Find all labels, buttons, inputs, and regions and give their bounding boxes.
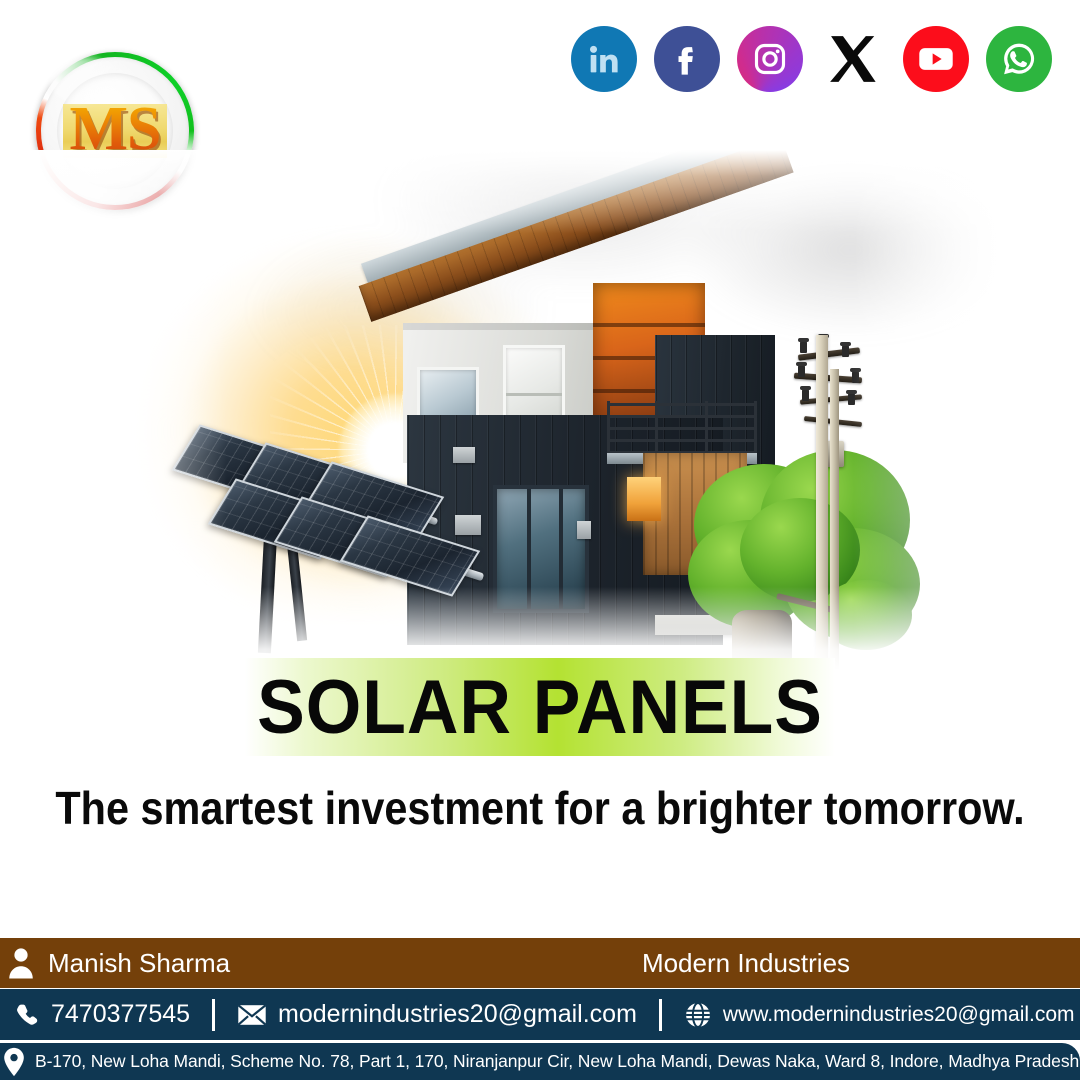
divider <box>212 999 215 1031</box>
pole-insulator <box>802 389 809 401</box>
pole-mast <box>816 335 828 670</box>
location-pin-icon <box>2 1047 26 1077</box>
contact-person-name: Manish Sharma <box>48 948 230 979</box>
website-block[interactable]: www.modernindustries20@gmail.com <box>684 1001 1075 1029</box>
pole-insulator <box>798 365 805 377</box>
lit-window <box>627 477 661 521</box>
phone-icon <box>14 1002 40 1028</box>
whatsapp-icon[interactable] <box>986 26 1052 92</box>
linkedin-icon[interactable] <box>571 26 637 92</box>
phone-number: 7470377545 <box>51 1000 190 1029</box>
hero-photo-collage <box>0 150 1080 670</box>
divider <box>659 999 662 1031</box>
logo-glare <box>50 58 129 105</box>
pole-insulator <box>852 371 859 383</box>
pole-insulator <box>848 393 855 405</box>
email-address: modernindustries20@gmail.com <box>278 1000 637 1029</box>
solar-panels-promo-poster: MS MS <box>0 0 1080 1080</box>
pole-crossarm <box>798 347 860 361</box>
utility-pole <box>790 335 870 670</box>
instagram-icon[interactable] <box>737 26 803 92</box>
website-url: www.modernindustries20@gmail.com <box>723 1003 1075 1027</box>
globe-icon <box>684 1001 712 1029</box>
footer-contact-bar: 7470377545 modernindustries20@gmail.com <box>0 989 1080 1040</box>
balcony-railing <box>607 401 757 455</box>
solar-panel-array <box>175 415 565 665</box>
contact-person: Manish Sharma <box>0 946 230 980</box>
social-links <box>571 26 1052 92</box>
facebook-icon[interactable] <box>654 26 720 92</box>
array-support-post-1 <box>258 533 277 654</box>
email-block[interactable]: modernindustries20@gmail.com <box>237 1000 637 1029</box>
page-title: SOLAR PANELS <box>32 665 1047 751</box>
person-icon <box>6 946 36 980</box>
pole-insulator <box>842 345 849 357</box>
tagline: The smartest investment for a brighter t… <box>54 780 1026 836</box>
pole-insulator <box>800 341 807 353</box>
footer-address-bar: B-170, New Loha Mandi, Scheme No. 78, Pa… <box>0 1043 1080 1080</box>
phone-block[interactable]: 7470377545 <box>0 1000 190 1029</box>
pole-mast-secondary <box>830 369 839 670</box>
x-twitter-icon[interactable] <box>820 26 886 92</box>
footer-name-bar: Manish Sharma Modern Industries <box>0 938 1080 988</box>
envelope-icon <box>237 1003 267 1027</box>
company-name: Modern Industries <box>206 948 1080 979</box>
youtube-icon[interactable] <box>903 26 969 92</box>
wall-fixture <box>577 521 591 539</box>
address-text: B-170, New Loha Mandi, Scheme No. 78, Pa… <box>35 1051 1080 1072</box>
